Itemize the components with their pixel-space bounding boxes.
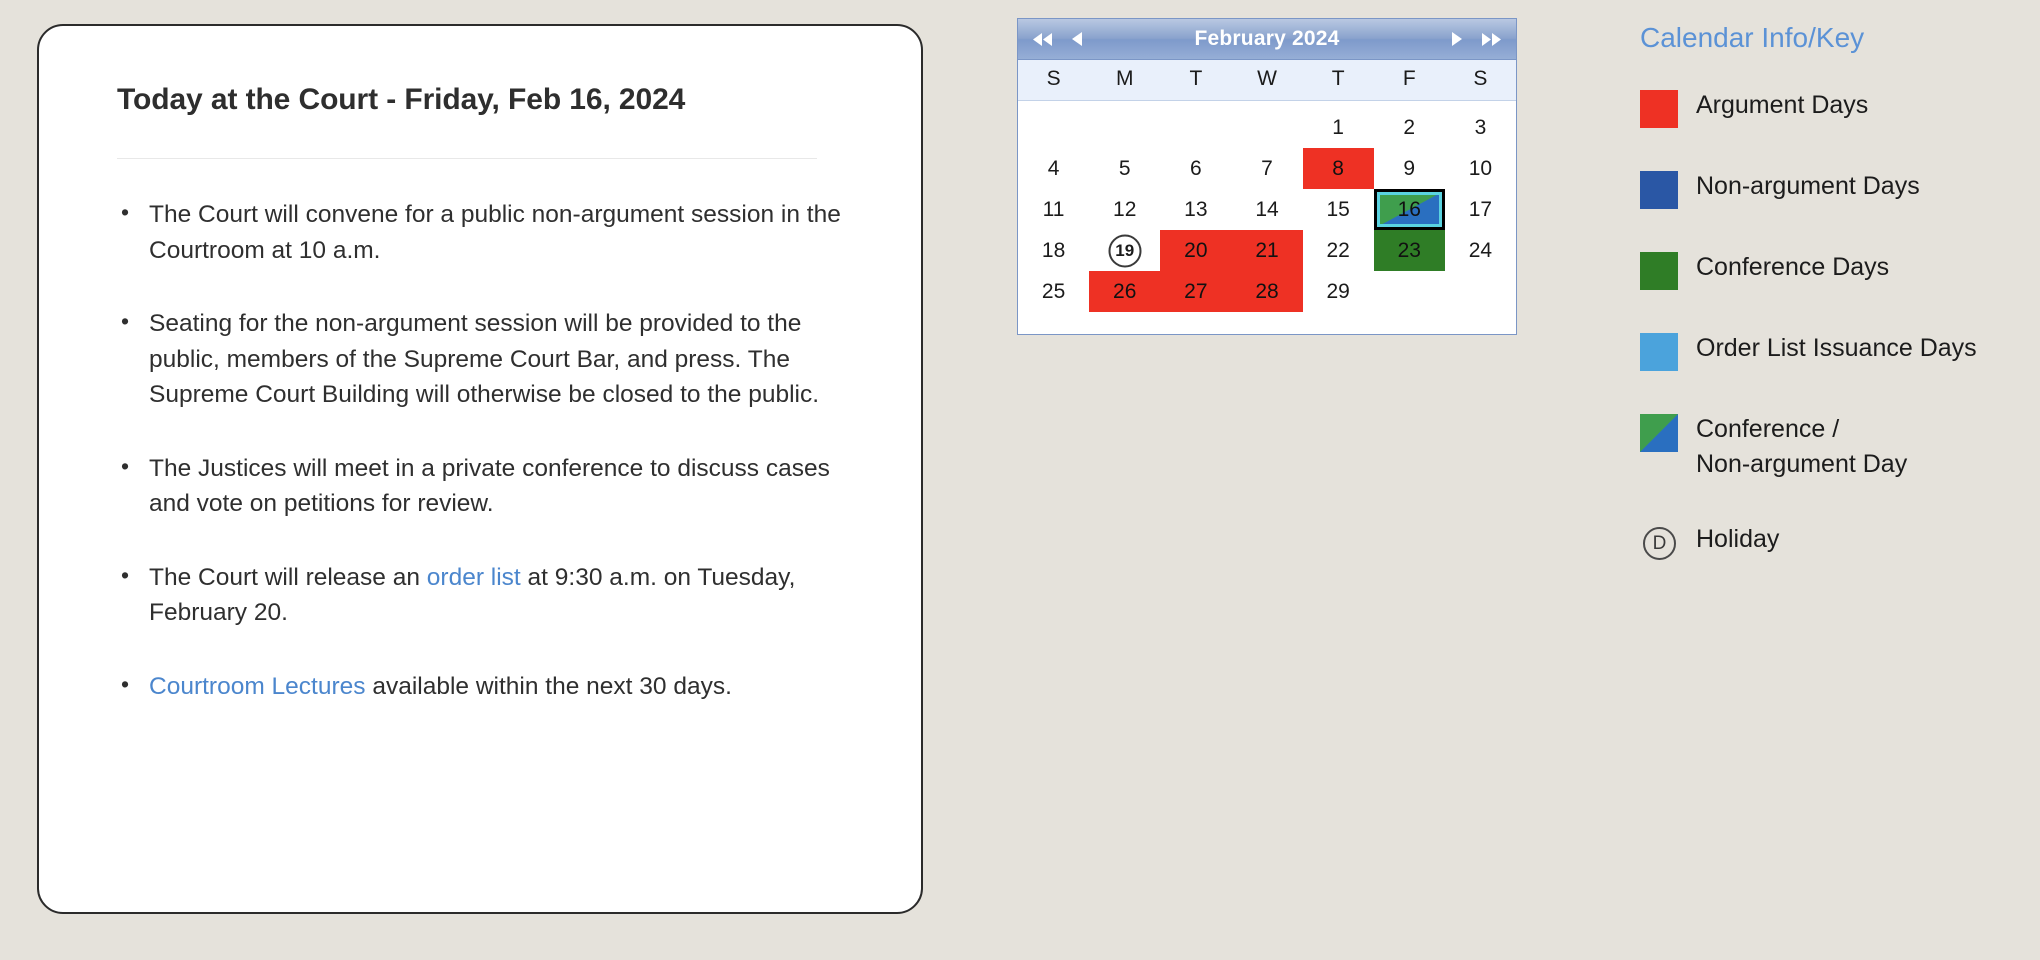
- calendar-day-cell[interactable]: 5: [1089, 148, 1160, 189]
- calendar-day-cell[interactable]: 16: [1374, 189, 1445, 230]
- day-5[interactable]: 5: [1089, 148, 1160, 189]
- day-16[interactable]: 16: [1374, 189, 1445, 230]
- key-legend-label: Conference Days: [1696, 250, 1889, 285]
- day-number: 28: [1255, 280, 1278, 304]
- calendar-info-key: Calendar Info/Key Argument DaysNon-argum…: [1640, 22, 2020, 601]
- day-20[interactable]: 20: [1160, 230, 1231, 271]
- inline-link[interactable]: Courtroom Lectures: [149, 673, 366, 700]
- day-number: 6: [1190, 157, 1202, 181]
- day-10[interactable]: 10: [1445, 148, 1516, 189]
- weekday-header: T: [1303, 60, 1374, 100]
- prev-year-double-left-icon[interactable]: [1026, 25, 1060, 53]
- calendar-day-cell[interactable]: 1: [1303, 107, 1374, 148]
- calendar-day-cell[interactable]: 3: [1445, 107, 1516, 148]
- calendar-day-cell[interactable]: 11: [1018, 189, 1089, 230]
- next-month-right-icon[interactable]: [1440, 25, 1474, 53]
- key-legend-item: Order List Issuance Days: [1640, 331, 2020, 371]
- day-13[interactable]: 13: [1160, 189, 1231, 230]
- calendar-day-cell[interactable]: 6: [1160, 148, 1231, 189]
- day-28[interactable]: 28: [1231, 271, 1302, 312]
- calendar-day-cell[interactable]: 4: [1018, 148, 1089, 189]
- calendar-day-cell[interactable]: 28: [1231, 271, 1302, 312]
- day-9[interactable]: 9: [1374, 148, 1445, 189]
- day-25[interactable]: 25: [1018, 271, 1089, 312]
- day-number: 15: [1326, 198, 1349, 222]
- list-item-text: The Court will release an: [149, 564, 427, 591]
- day-8[interactable]: 8: [1303, 148, 1374, 189]
- calendar-day-cell[interactable]: 23: [1374, 230, 1445, 271]
- calendar-weekday-row: SMTWTFS: [1018, 60, 1516, 101]
- calendar-day-cell[interactable]: 27: [1160, 271, 1231, 312]
- day-number: 26: [1113, 280, 1136, 304]
- calendar-day-cell[interactable]: 22: [1303, 230, 1374, 271]
- title-divider: [117, 158, 817, 159]
- day-3[interactable]: 3: [1445, 107, 1516, 148]
- calendar-empty-cell: [1089, 107, 1160, 148]
- day-21[interactable]: 21: [1231, 230, 1302, 271]
- calendar-day-cell[interactable]: 2: [1374, 107, 1445, 148]
- calendar-day-cell[interactable]: 19: [1089, 230, 1160, 271]
- day-number: 3: [1475, 116, 1487, 140]
- key-legend-item: Argument Days: [1640, 88, 2020, 128]
- day-number: 27: [1184, 280, 1207, 304]
- day-2[interactable]: 2: [1374, 107, 1445, 148]
- day-19[interactable]: 19: [1089, 230, 1160, 271]
- day-number: 14: [1255, 198, 1278, 222]
- day-number: 13: [1184, 198, 1207, 222]
- next-year-double-right-icon[interactable]: [1474, 25, 1508, 53]
- key-legend-item: Non-argument Days: [1640, 169, 2020, 209]
- color-swatch-icon: [1640, 414, 1678, 452]
- calendar-day-cell[interactable]: 25: [1018, 271, 1089, 312]
- weekday-header: F: [1374, 60, 1445, 100]
- day-number: 16: [1398, 198, 1421, 222]
- list-item: Seating for the non-argument session wil…: [117, 306, 859, 413]
- day-number: 21: [1255, 239, 1278, 263]
- day-11[interactable]: 11: [1018, 189, 1089, 230]
- day-29[interactable]: 29: [1303, 271, 1374, 312]
- day-number: 17: [1469, 198, 1492, 222]
- today-at-the-court-card: Today at the Court - Friday, Feb 16, 202…: [37, 24, 923, 914]
- day-number: 4: [1048, 157, 1060, 181]
- calendar-day-cell[interactable]: 21: [1231, 230, 1302, 271]
- calendar-day-cell[interactable]: 20: [1160, 230, 1231, 271]
- key-legend-item: DHoliday: [1640, 522, 2020, 560]
- calendar-day-cell[interactable]: 9: [1374, 148, 1445, 189]
- weekday-header: S: [1018, 60, 1089, 100]
- weekday-header: T: [1160, 60, 1231, 100]
- day-17[interactable]: 17: [1445, 189, 1516, 230]
- day-number: 8: [1332, 157, 1344, 181]
- calendar-day-cell[interactable]: 13: [1160, 189, 1231, 230]
- calendar-day-cell[interactable]: 12: [1089, 189, 1160, 230]
- day-number: 18: [1042, 239, 1065, 263]
- key-legend-item: Conference /Non-argument Day: [1640, 412, 2020, 481]
- day-number: 9: [1403, 157, 1415, 181]
- day-12[interactable]: 12: [1089, 189, 1160, 230]
- weekday-header: M: [1089, 60, 1160, 100]
- calendar-day-cell[interactable]: 8: [1303, 148, 1374, 189]
- calendar-day-cell[interactable]: 18: [1018, 230, 1089, 271]
- day-number: 25: [1042, 280, 1065, 304]
- color-swatch-icon: [1640, 252, 1678, 290]
- day-number: 12: [1113, 198, 1136, 222]
- key-legend-item: Conference Days: [1640, 250, 2020, 290]
- calendar-header: February 2024: [1018, 19, 1516, 60]
- key-legend-label: Order List Issuance Days: [1696, 331, 1977, 366]
- day-number: 20: [1184, 239, 1207, 263]
- list-item-text: The Justices will meet in a private conf…: [149, 455, 830, 518]
- today-bullet-list: The Court will convene for a public non-…: [117, 197, 859, 704]
- day-26[interactable]: 26: [1089, 271, 1160, 312]
- day-number: 1: [1332, 116, 1344, 140]
- day-number: 10: [1469, 157, 1492, 181]
- list-item-text: available within the next 30 days.: [366, 673, 732, 700]
- calendar-empty-cell: [1160, 107, 1231, 148]
- list-item: The Court will release an order list at …: [117, 560, 859, 631]
- prev-month-left-icon[interactable]: [1060, 25, 1094, 53]
- day-7[interactable]: 7: [1231, 148, 1302, 189]
- calendar-empty-cell: [1018, 107, 1089, 148]
- day-number: 11: [1043, 198, 1065, 222]
- key-legend-label: Argument Days: [1696, 88, 1868, 123]
- calendar-info-key-link[interactable]: Calendar Info/Key: [1640, 22, 2020, 54]
- key-legend-label: Conference /Non-argument Day: [1696, 412, 1907, 481]
- card-inner: Today at the Court - Friday, Feb 16, 202…: [39, 26, 921, 744]
- calendar-key-list: Argument DaysNon-argument DaysConference…: [1640, 88, 2020, 560]
- day-14[interactable]: 14: [1231, 189, 1302, 230]
- calendar-day-cell[interactable]: 14: [1231, 189, 1302, 230]
- calendar-day-cell[interactable]: 10: [1445, 148, 1516, 189]
- list-item-text: The Court will convene for a public non-…: [149, 201, 841, 264]
- day-number: 29: [1326, 280, 1349, 304]
- day-23[interactable]: 23: [1374, 230, 1445, 271]
- day-24[interactable]: 24: [1445, 230, 1516, 271]
- holiday-circle-icon: D: [1643, 527, 1676, 560]
- calendar-day-cell[interactable]: 15: [1303, 189, 1374, 230]
- day-number: 19: [1115, 241, 1134, 261]
- color-swatch-icon: [1640, 333, 1678, 371]
- calendar-day-cell[interactable]: 17: [1445, 189, 1516, 230]
- day-1[interactable]: 1: [1303, 107, 1374, 148]
- list-item: Courtroom Lectures available within the …: [117, 669, 859, 705]
- list-item: The Justices will meet in a private conf…: [117, 451, 859, 522]
- page-title: Today at the Court - Friday, Feb 16, 202…: [117, 82, 859, 118]
- calendar-day-grid: 1234567891011121314151617181920212223242…: [1018, 101, 1516, 334]
- day-number: 23: [1398, 239, 1421, 263]
- day-number: 7: [1261, 157, 1273, 181]
- day-number: 24: [1469, 239, 1492, 263]
- weekday-header: S: [1445, 60, 1516, 100]
- list-item: The Court will convene for a public non-…: [117, 197, 859, 268]
- day-15[interactable]: 15: [1303, 189, 1374, 230]
- weekday-header: W: [1231, 60, 1302, 100]
- calendar-day-cell[interactable]: 29: [1303, 271, 1374, 312]
- day-number: 5: [1119, 157, 1131, 181]
- calendar-nav-left: [1026, 25, 1094, 53]
- day-6[interactable]: 6: [1160, 148, 1231, 189]
- day-27[interactable]: 27: [1160, 271, 1231, 312]
- key-legend-label: Holiday: [1696, 522, 1779, 557]
- calendar-nav-right: [1440, 25, 1508, 53]
- month-calendar: February 2024 SMTWTFS 123456789101112131…: [1017, 18, 1517, 335]
- list-item-text: Seating for the non-argument session wil…: [149, 310, 819, 408]
- color-swatch-icon: [1640, 171, 1678, 209]
- calendar-day-cell[interactable]: 24: [1445, 230, 1516, 271]
- calendar-day-cell[interactable]: 7: [1231, 148, 1302, 189]
- key-legend-label: Non-argument Days: [1696, 169, 1920, 204]
- day-number: 22: [1326, 239, 1349, 263]
- calendar-empty-cell: [1231, 107, 1302, 148]
- day-4[interactable]: 4: [1018, 148, 1089, 189]
- day-22[interactable]: 22: [1303, 230, 1374, 271]
- calendar-day-cell[interactable]: 26: [1089, 271, 1160, 312]
- day-18[interactable]: 18: [1018, 230, 1089, 271]
- inline-link[interactable]: order list: [427, 564, 521, 591]
- day-number: 2: [1403, 116, 1415, 140]
- color-swatch-icon: [1640, 90, 1678, 128]
